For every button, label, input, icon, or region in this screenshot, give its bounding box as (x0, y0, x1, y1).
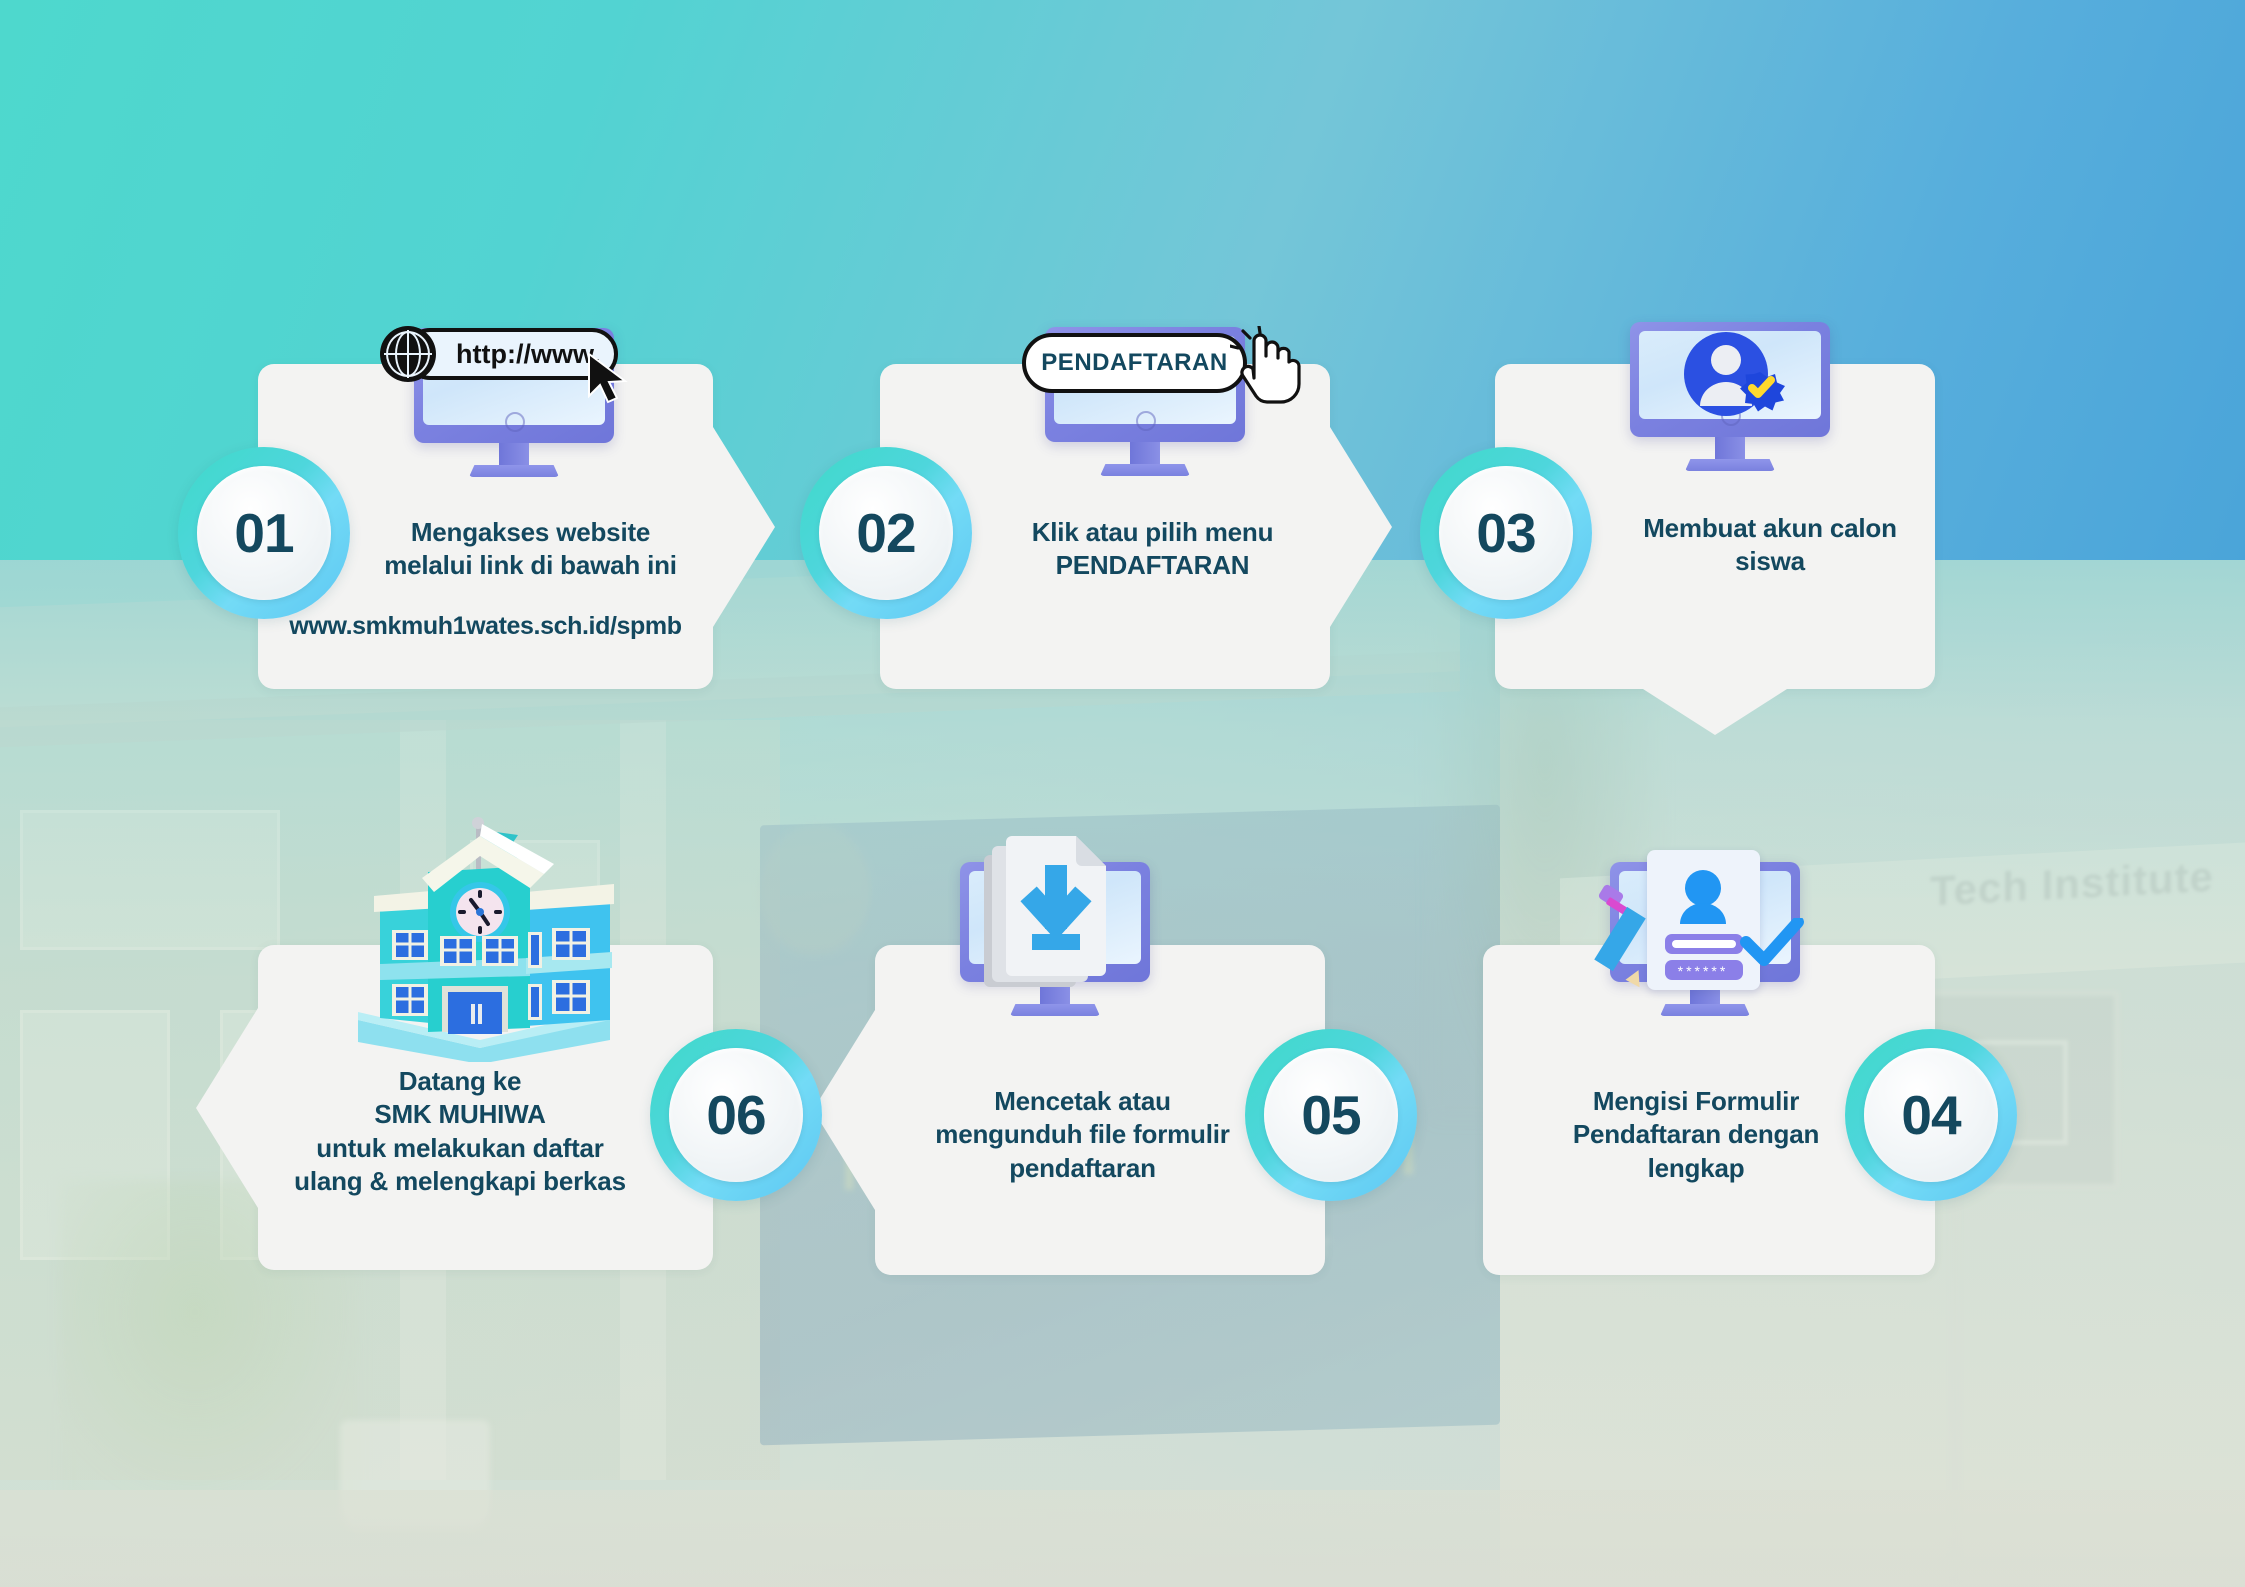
pencil-icon (1594, 884, 1664, 994)
step-04-title: Mengisi Formulir Pendaftaran dengan leng… (1501, 1085, 1891, 1185)
step-06-badge: 06 (650, 1029, 822, 1201)
step-02-title: Klik atau pilih menu PENDAFTARAN (975, 516, 1330, 583)
hand-pointer-icon (1230, 326, 1302, 412)
download-document-icon (1002, 836, 1110, 982)
step-06-school-building-icon (330, 812, 630, 1062)
step-03-monitor-verified-user-icon (1630, 322, 1840, 472)
check-icon (1740, 918, 1804, 970)
step-05-title: Mencetak atau mengunduh file formulir pe… (875, 1085, 1290, 1185)
step-01-link[interactable]: www.smkmuh1wates.sch.id/spmb (258, 612, 713, 641)
step-06-title: Datang ke SMK MUHIWA untuk melakukan daf… (240, 1065, 680, 1198)
verified-user-icon (1678, 328, 1788, 424)
step-01-title: Mengakses website melalui link di bawah … (348, 516, 713, 583)
step-04-number: 04 (1901, 1083, 1960, 1147)
url-text: http://www. (456, 339, 600, 370)
pill-label: PENDAFTARAN (1041, 349, 1227, 377)
step-05-number: 05 (1301, 1083, 1360, 1147)
step-06-number: 06 (706, 1083, 765, 1147)
step-03-badge: 03 (1420, 447, 1592, 619)
step-02-number: 02 (856, 501, 915, 565)
globe-icon (380, 326, 436, 382)
svg-text:******: ****** (1678, 963, 1729, 979)
step-01-number: 01 (234, 501, 293, 565)
step-03-title: Membuat akun calon siswa (1600, 512, 1940, 579)
step-05-badge: 05 (1245, 1029, 1417, 1201)
step-04-monitor-form-pencil-icon: ****** (1600, 862, 1815, 1032)
cursor-arrow-icon (585, 352, 631, 406)
step-02-pendaftaran-pill[interactable]: PENDAFTARAN (1022, 333, 1247, 393)
step-05-monitor-download-document-icon (950, 862, 1165, 1032)
step-03-number: 03 (1476, 501, 1535, 565)
step-04-badge: 04 (1845, 1029, 2017, 1201)
step-02-badge: 02 (800, 447, 972, 619)
step-01-badge: 01 (178, 447, 350, 619)
